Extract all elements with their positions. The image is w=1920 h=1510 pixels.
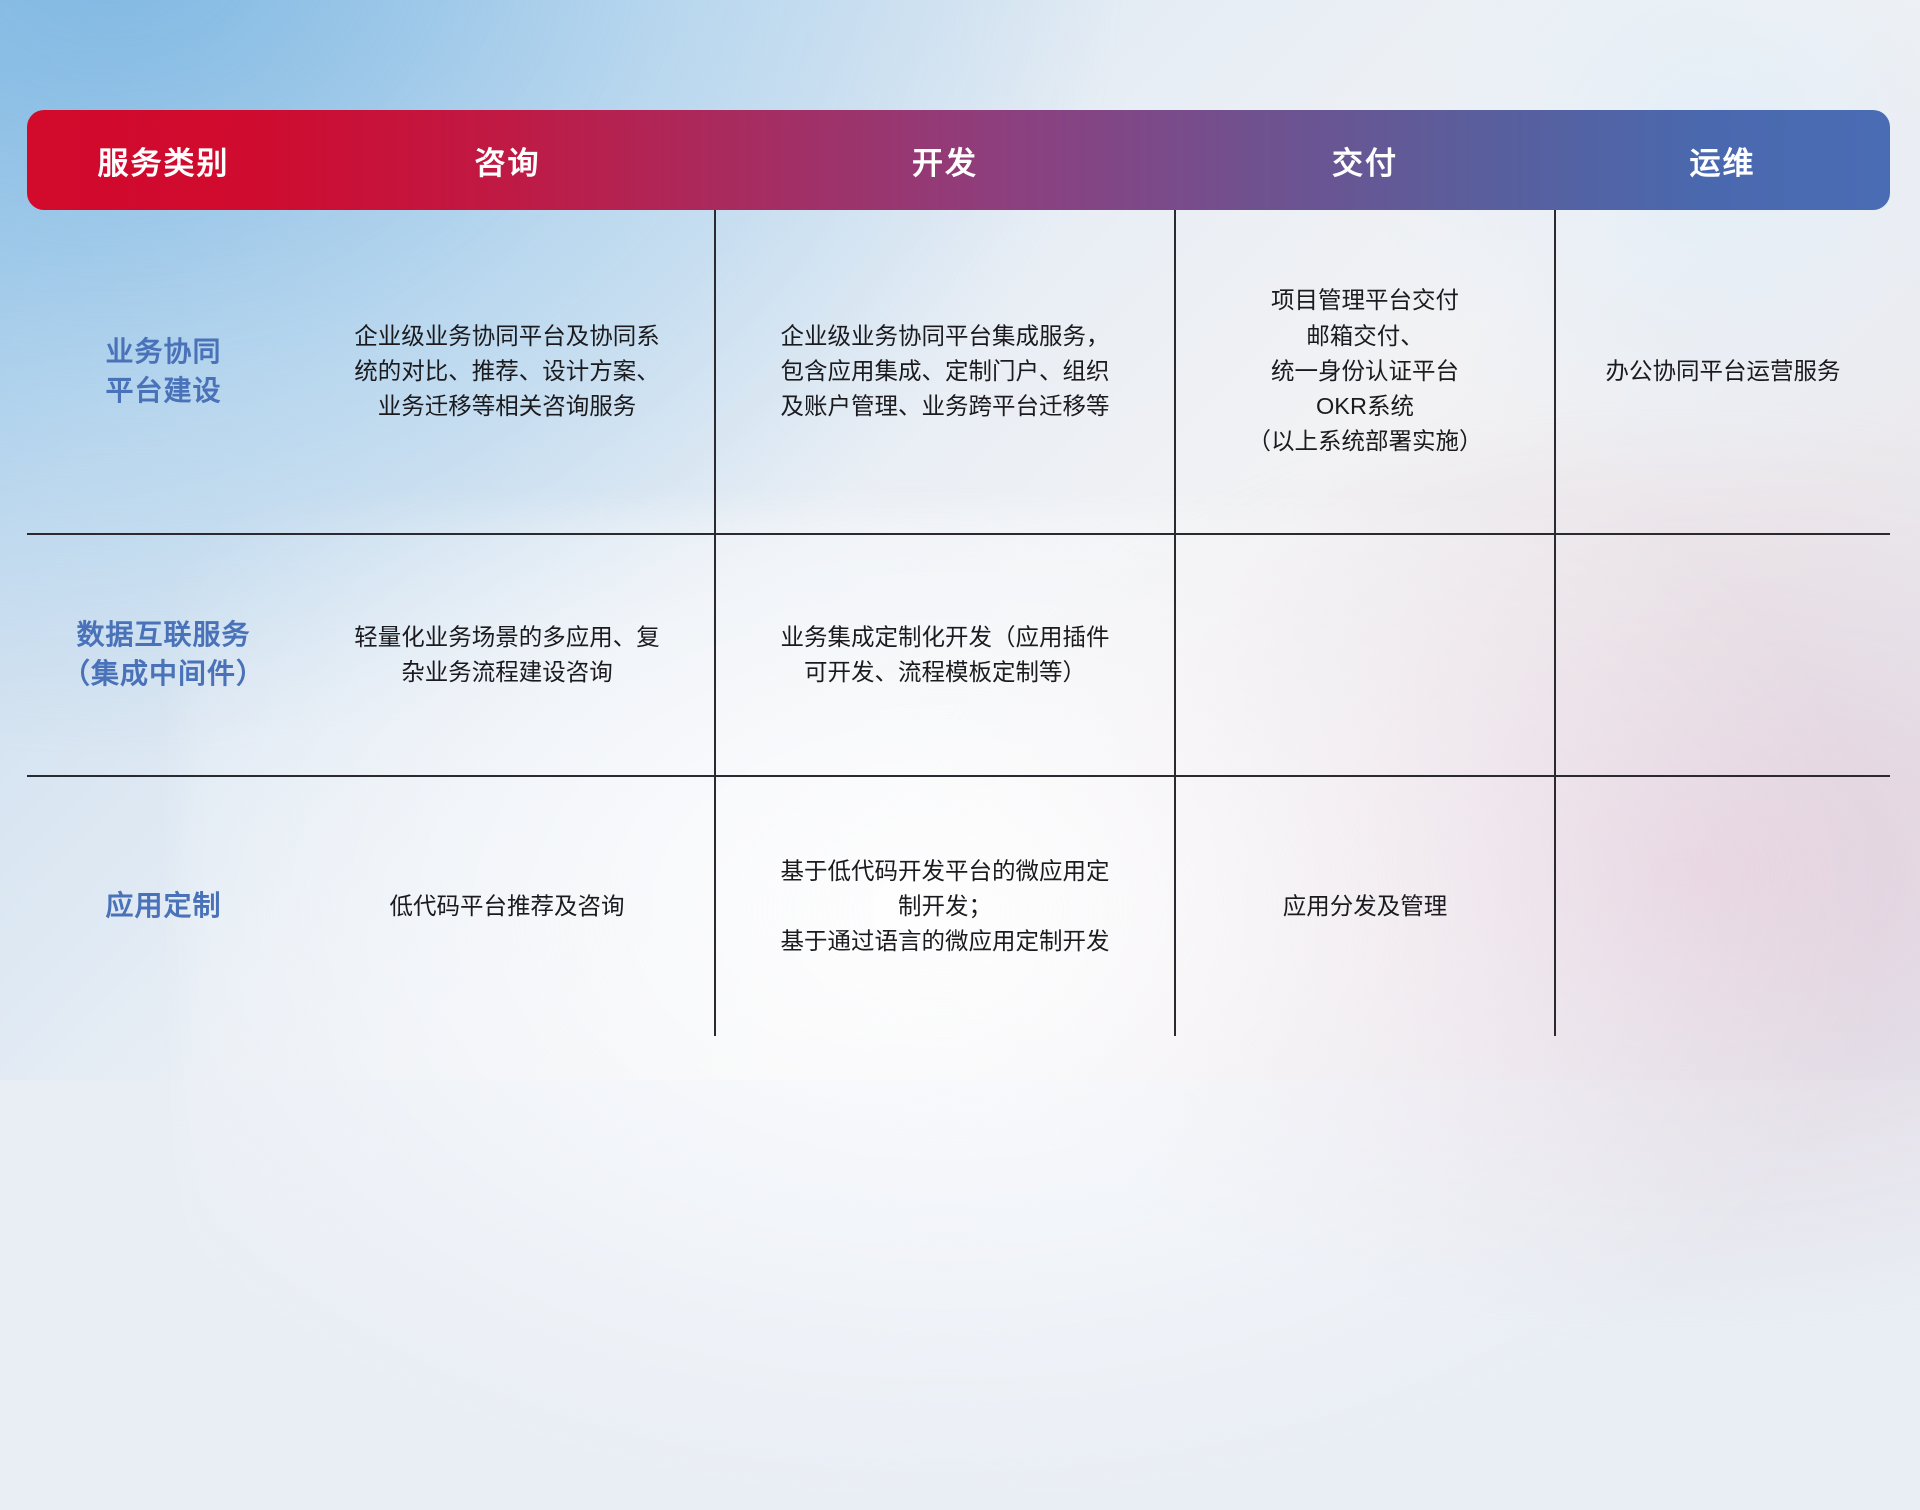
cell-consulting: 低代码平台推荐及咨询	[300, 776, 715, 1036]
header-label-delivery: 交付	[1175, 138, 1555, 183]
header-cell-delivery: 交付	[1175, 110, 1555, 210]
cell-text: 应用分发及管理	[1198, 889, 1532, 924]
header-cell-operations: 运维	[1555, 110, 1890, 210]
cell-operations	[1555, 776, 1890, 1036]
table-row: 数据互联服务 （集成中间件） 轻量化业务场景的多应用、复 杂业务流程建设咨询 业…	[27, 534, 1890, 776]
cell-development: 业务集成定制化开发（应用插件 可开发、流程模板定制等）	[715, 534, 1175, 776]
table-row: 应用定制 低代码平台推荐及咨询 基于低代码开发平台的微应用定 制开发； 基于通过…	[27, 776, 1890, 1036]
cell-text: 低代码平台推荐及咨询	[322, 889, 692, 924]
cell-text: 项目管理平台交付 邮箱交付、 统一身份认证平台 OKR系统 （以上系统部署实施）	[1198, 283, 1532, 459]
cell-consulting: 企业级业务协同平台及协同系 统的对比、推荐、设计方案、 业务迁移等相关咨询服务	[300, 210, 715, 534]
table-header-row: 服务类别 咨询 开发 交付 运维	[27, 110, 1890, 210]
header-cell-category: 服务类别	[27, 110, 300, 210]
cell-text: 轻量化业务场景的多应用、复 杂业务流程建设咨询	[322, 620, 692, 691]
row-category-label: 业务协同 平台建设	[27, 210, 300, 534]
cell-consulting: 轻量化业务场景的多应用、复 杂业务流程建设咨询	[300, 534, 715, 776]
table-row: 业务协同 平台建设 企业级业务协同平台及协同系 统的对比、推荐、设计方案、 业务…	[27, 210, 1890, 534]
service-matrix-container: 服务类别 咨询 开发 交付 运维 业务协同 平台建设	[27, 110, 1890, 948]
cell-text: 企业级业务协同平台及协同系 统的对比、推荐、设计方案、 业务迁移等相关咨询服务	[322, 319, 692, 425]
cell-delivery: 应用分发及管理	[1175, 776, 1555, 1036]
table-body: 业务协同 平台建设 企业级业务协同平台及协同系 统的对比、推荐、设计方案、 业务…	[27, 210, 1890, 1036]
table-head: 服务类别 咨询 开发 交付 运维	[27, 110, 1890, 210]
cell-text: 基于低代码开发平台的微应用定 制开发； 基于通过语言的微应用定制开发	[738, 854, 1152, 960]
cell-text: 企业级业务协同平台集成服务， 包含应用集成、定制门户、组织 及账户管理、业务跨平…	[738, 319, 1152, 425]
cell-text: 业务集成定制化开发（应用插件 可开发、流程模板定制等）	[738, 620, 1152, 691]
cell-operations	[1555, 534, 1890, 776]
cell-delivery	[1175, 534, 1555, 776]
header-label-category: 服务类别	[27, 138, 300, 183]
cell-operations: 办公协同平台运营服务	[1555, 210, 1890, 534]
row-category-label: 数据互联服务 （集成中间件）	[27, 534, 300, 776]
row-category-label: 应用定制	[27, 776, 300, 1036]
header-label-operations: 运维	[1555, 138, 1890, 183]
header-label-development: 开发	[715, 138, 1175, 183]
cell-development: 企业级业务协同平台集成服务， 包含应用集成、定制门户、组织 及账户管理、业务跨平…	[715, 210, 1175, 534]
header-cell-development: 开发	[715, 110, 1175, 210]
cell-delivery: 项目管理平台交付 邮箱交付、 统一身份认证平台 OKR系统 （以上系统部署实施）	[1175, 210, 1555, 534]
header-cell-consulting: 咨询	[300, 110, 715, 210]
service-matrix-table: 服务类别 咨询 开发 交付 运维 业务协同 平台建设	[27, 110, 1890, 1036]
header-label-consulting: 咨询	[300, 138, 715, 183]
cell-development: 基于低代码开发平台的微应用定 制开发； 基于通过语言的微应用定制开发	[715, 776, 1175, 1036]
cell-text: 办公协同平台运营服务	[1578, 354, 1868, 389]
